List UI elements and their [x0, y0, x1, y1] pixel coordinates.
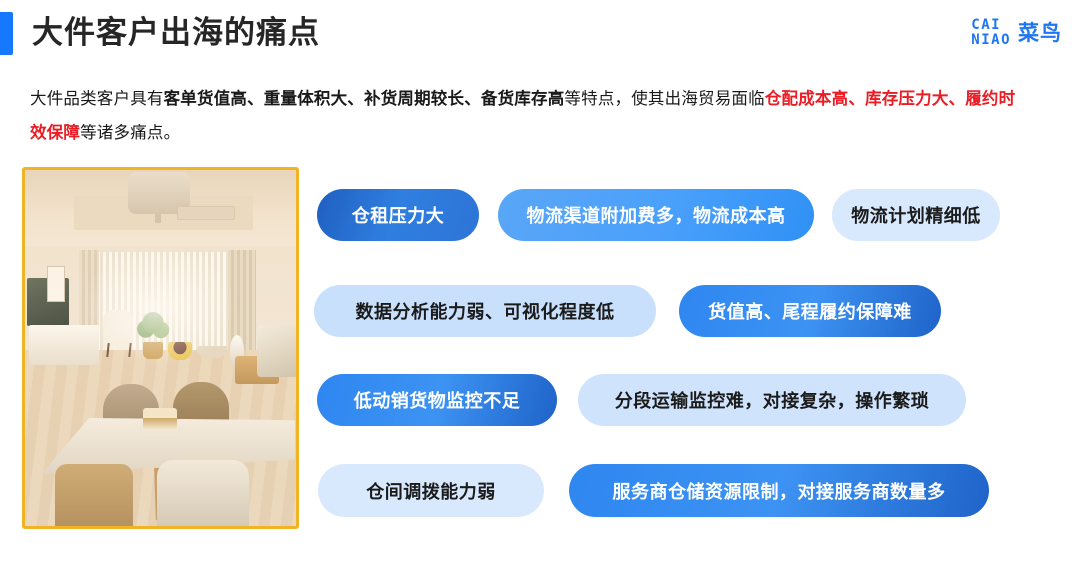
pain-point-pill-9[interactable]: 服务商仓储资源限制，对接服务商数量多: [569, 464, 989, 517]
title-accent-bar: [0, 12, 13, 55]
photo-sofa: [257, 325, 296, 377]
intro-segment-2: 等特点，使其出海贸易面临: [564, 90, 764, 108]
photo-basket: [168, 342, 192, 360]
room-photo-frame: [22, 167, 299, 529]
photo-cabinet: [29, 325, 99, 365]
photo-ac-vent: [177, 206, 235, 220]
intro-segment-1: 大件品类客户具有: [30, 90, 164, 108]
photo-bowl: [197, 346, 227, 358]
pain-point-pill-5[interactable]: 货值高、尾程履约保障难: [679, 285, 941, 337]
cainiao-logo-mark: CAI NIAO: [971, 18, 1011, 47]
logo-text-cai: CAI: [971, 18, 1001, 32]
pain-point-pill-7[interactable]: 分段运输监控难，对接复杂，操作繁琐: [578, 374, 966, 426]
intro-paragraph: 大件品类客户具有客单货值高、重量体积大、补货周期较长、备货库存高等特点，使其出海…: [30, 82, 1030, 150]
cainiao-logo: CAI NIAO 菜鸟: [971, 17, 1062, 47]
pain-point-pill-6[interactable]: 低动销货物监控不足: [317, 374, 557, 426]
logo-text-niao: NIAO: [971, 33, 1011, 47]
photo-dining-chair-front-2: [157, 460, 249, 526]
pain-point-pill-3[interactable]: 物流计划精细低: [832, 189, 1000, 241]
pain-point-pill-8[interactable]: 仓间调拨能力弱: [318, 464, 544, 517]
pain-point-pill-4[interactable]: 数据分析能力弱、可视化程度低: [314, 285, 656, 337]
intro-bold-1: 客单货值高、重量体积大、补货周期较长、备货库存高: [164, 90, 565, 108]
intro-segment-3: 等诸多痛点。: [80, 124, 180, 142]
room-photo: [25, 170, 296, 526]
page-title: 大件客户出海的痛点: [32, 11, 320, 55]
photo-mugs: [143, 408, 177, 430]
pain-point-pill-2[interactable]: 物流渠道附加费多，物流成本高: [498, 189, 814, 241]
slide-root: 大件客户出海的痛点 CAI NIAO 菜鸟 大件品类客户具有客单货值高、重量体积…: [0, 0, 1080, 564]
photo-plant-pot: [143, 342, 163, 359]
pain-point-pill-1[interactable]: 仓租压力大: [317, 189, 479, 241]
photo-dining-chair-front-1: [55, 464, 133, 526]
photo-wall-art: [47, 266, 65, 302]
logo-text-chinese: 菜鸟: [1018, 17, 1062, 47]
photo-accent-chair: [103, 310, 133, 350]
